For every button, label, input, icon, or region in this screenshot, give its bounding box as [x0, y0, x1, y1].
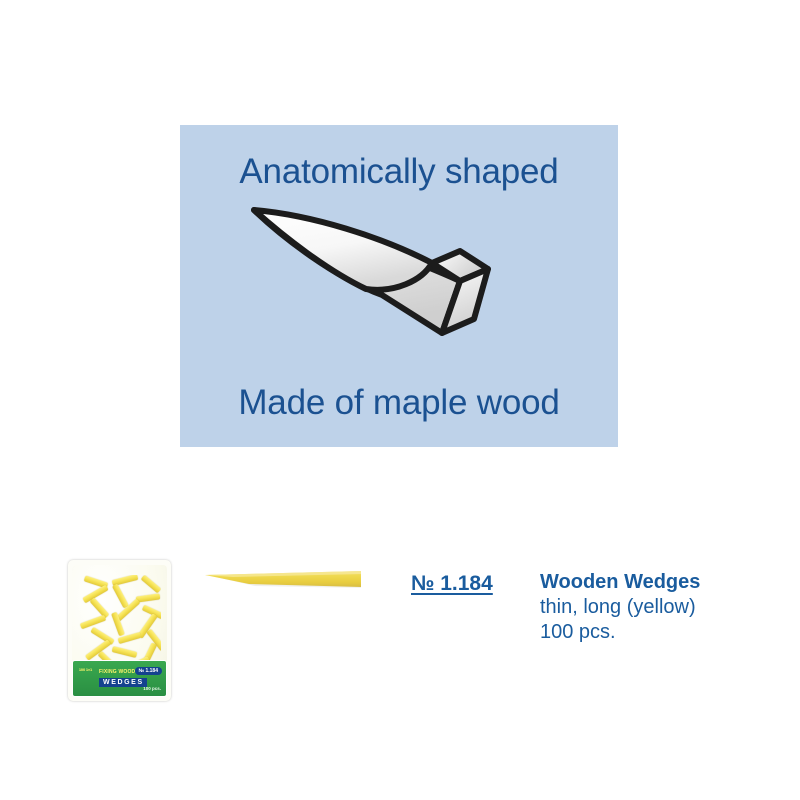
package-label-quantity: 100 pcs.: [143, 686, 161, 691]
product-quantity: 100 pcs.: [540, 620, 700, 645]
product-name: Wooden Wedges: [540, 570, 700, 595]
product-variant: thin, long (yellow): [540, 595, 700, 620]
product-package-image: 100 1×1 FIXING WOODEN WEDGES № 1.184 100…: [68, 560, 171, 701]
feature-headline-bottom: Made of maple wood: [180, 383, 618, 423]
wedge-pile: [78, 575, 161, 667]
feature-panel: Anatomically shaped: [180, 125, 618, 447]
package-label-corner-mark: 100 1×1: [77, 667, 94, 672]
catalog-number: № 1.184: [411, 572, 493, 596]
package-label-code-badge: № 1.184: [135, 667, 162, 675]
product-description: Wooden Wedges thin, long (yellow) 100 pc…: [540, 570, 700, 645]
single-wedge-image: [203, 562, 363, 604]
package-label-product-word: WEDGES: [99, 678, 147, 687]
package-label: 100 1×1 FIXING WOODEN WEDGES № 1.184 100…: [72, 660, 167, 697]
wedge-3d-icon: [242, 185, 522, 350]
